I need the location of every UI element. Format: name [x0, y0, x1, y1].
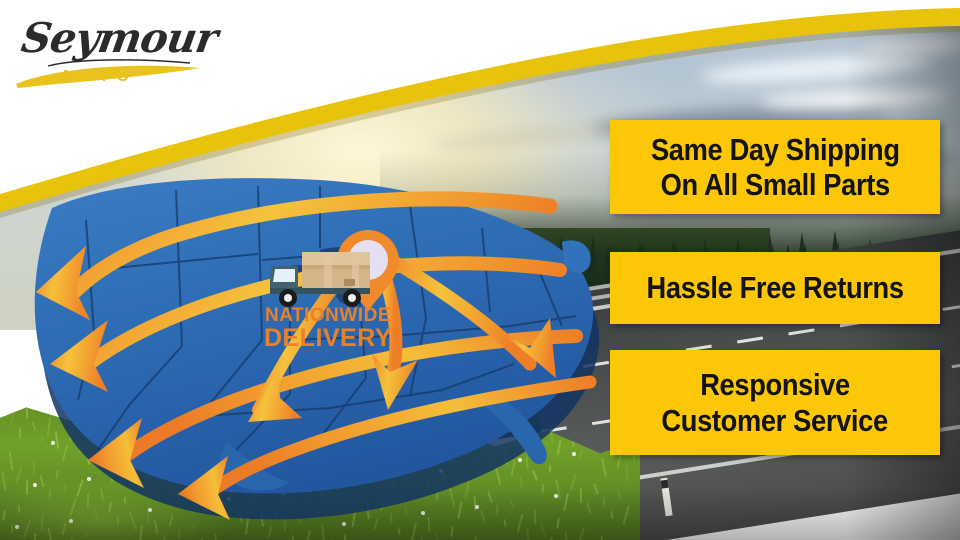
callout-line-2: DELIVERY: [258, 326, 398, 351]
promo-banner-canvas: Seymour AUTO: [0, 0, 960, 540]
brand-logo[interactable]: Seymour AUTO: [14, 14, 214, 96]
banner-line: Responsive: [700, 367, 850, 402]
brand-name: Seymour: [18, 14, 220, 62]
banner-line: Same Day Shipping: [651, 132, 900, 167]
callout-line-1: NATIONWIDE: [258, 306, 398, 325]
banner-line: Hassle Free Returns: [646, 270, 903, 305]
banner-same-day-shipping[interactable]: Same Day Shipping On All Small Parts: [610, 120, 940, 214]
banner-line: Customer Service: [662, 403, 888, 438]
banner-hassle-free-returns[interactable]: Hassle Free Returns: [610, 252, 940, 324]
banner-line: On All Small Parts: [660, 167, 889, 202]
banner-responsive-customer-service[interactable]: Responsive Customer Service: [610, 350, 940, 455]
nationwide-delivery-label: NATIONWIDE DELIVERY: [258, 306, 398, 351]
delivery-truck-icon: [268, 250, 383, 312]
nationwide-delivery-callout: NATIONWIDE DELIVERY: [258, 228, 423, 368]
brand-subtitle: AUTO: [60, 68, 137, 86]
